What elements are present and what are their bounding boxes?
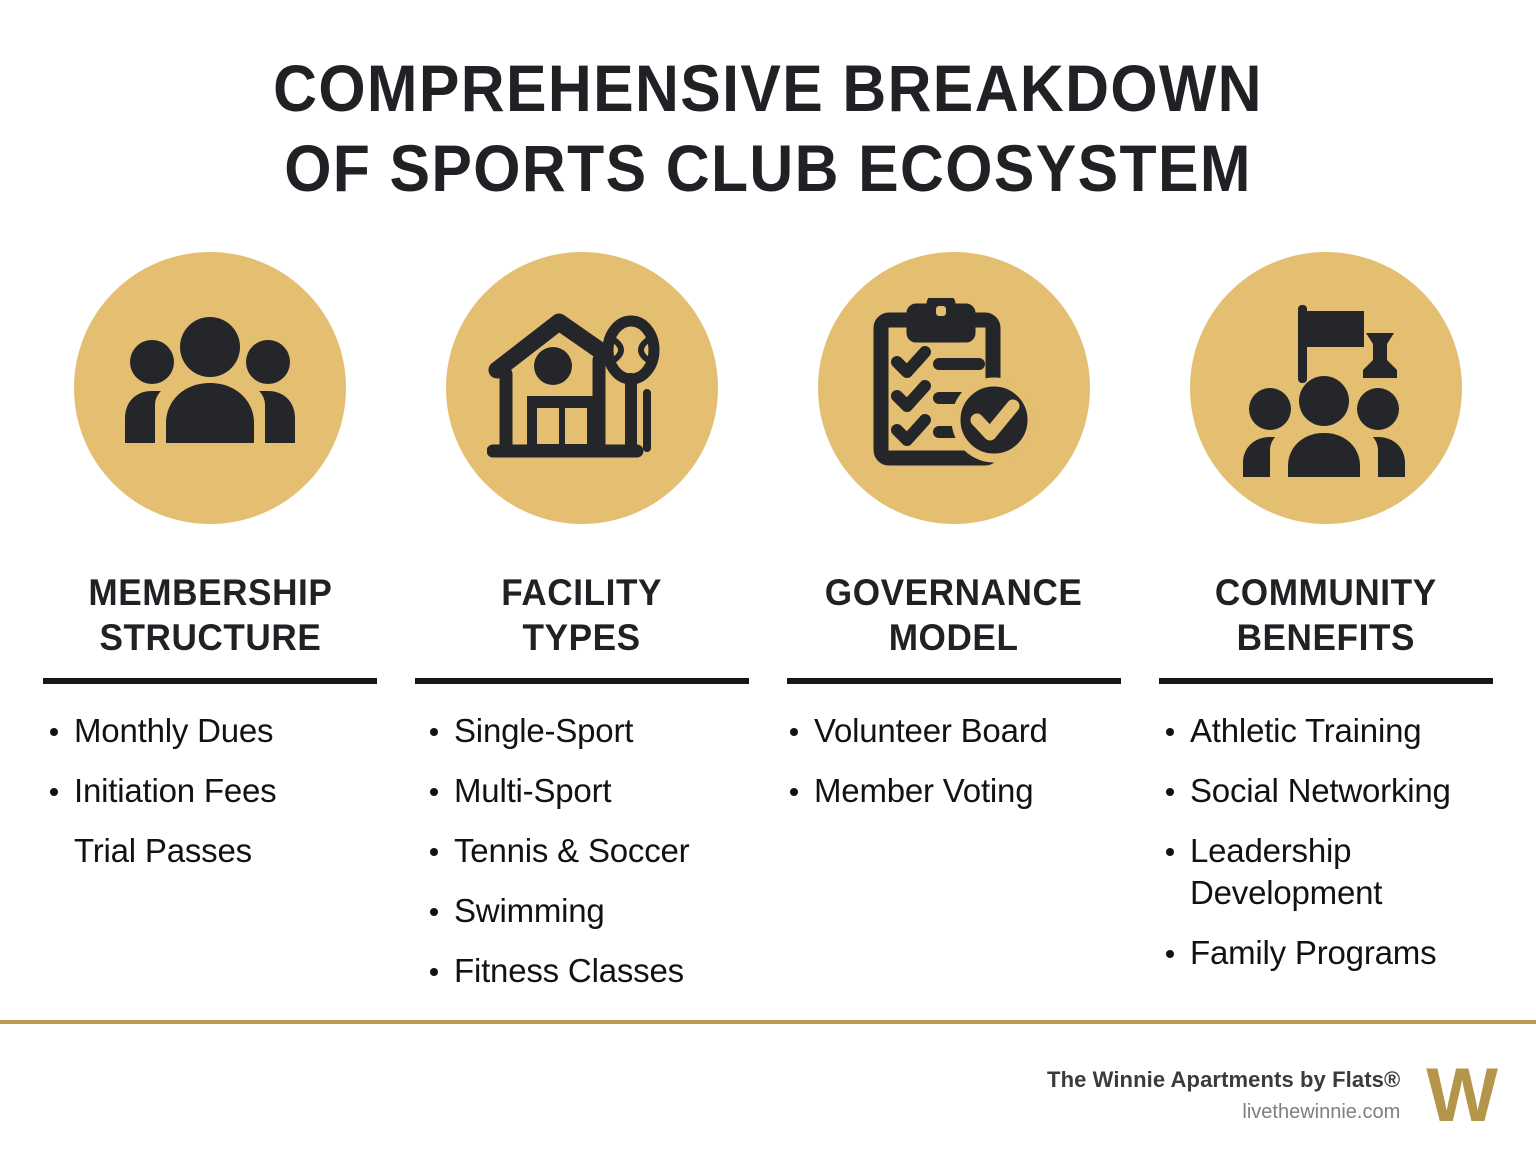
- column-heading-community: COMMUNITY BENEFITS: [1215, 570, 1437, 660]
- column-heading-line-2: BENEFITS: [1215, 615, 1437, 660]
- list-item: Tennis & Soccer: [414, 830, 748, 872]
- community-flag-icon: [1190, 252, 1462, 524]
- footer-brand-name: The Winnie Apartments by Flats®: [1047, 1065, 1400, 1095]
- column-divider: [787, 678, 1121, 684]
- footer-divider: [0, 1020, 1536, 1024]
- column-heading-line-1: MEMBERSHIP: [88, 570, 332, 615]
- list-item: Social Networking: [1150, 770, 1484, 812]
- column-heading-line-2: TYPES: [502, 615, 663, 660]
- column-heading-facility: FACILITY TYPES: [502, 570, 663, 660]
- column-membership-structure: MEMBERSHIP STRUCTURE Monthly Dues Initia…: [24, 252, 396, 890]
- page-title-line-2: OF SPORTS CLUB ECOSYSTEM: [61, 128, 1474, 208]
- people-group-icon: [74, 252, 346, 524]
- column-heading-line-2: MODEL: [825, 615, 1083, 660]
- column-heading-governance: GOVERNANCE MODEL: [825, 570, 1083, 660]
- footer: The Winnie Apartments by Flats® livethew…: [1047, 1058, 1496, 1134]
- list-governance-model: Volunteer Board Member Voting: [774, 710, 1108, 830]
- column-heading-line-1: GOVERNANCE: [825, 570, 1083, 615]
- infographic-page: COMPREHENSIVE BREAKDOWN OF SPORTS CLUB E…: [0, 0, 1536, 1154]
- column-divider: [1159, 678, 1493, 684]
- column-community-benefits: COMMUNITY BENEFITS Athletic Training Soc…: [1140, 252, 1512, 992]
- winnie-w-logo-icon: W: [1426, 1058, 1496, 1134]
- column-facility-types: FACILITY TYPES Single-Sport Multi-Sport …: [396, 252, 768, 1010]
- list-item: Single-Sport: [414, 710, 748, 752]
- footer-text: The Winnie Apartments by Flats® livethew…: [1047, 1065, 1400, 1127]
- column-divider: [415, 678, 749, 684]
- list-item: Monthly Dues: [34, 710, 368, 752]
- column-heading-line-1: COMMUNITY: [1215, 570, 1437, 615]
- clipboard-check-icon: [818, 252, 1090, 524]
- list-community-benefits: Athletic Training Social Networking Lead…: [1150, 710, 1484, 992]
- category-columns: MEMBERSHIP STRUCTURE Monthly Dues Initia…: [24, 252, 1512, 1010]
- list-item: Athletic Training: [1150, 710, 1484, 752]
- list-item: Swimming: [414, 890, 748, 932]
- footer-website-url[interactable]: livethewinnie.com: [1047, 1097, 1400, 1127]
- list-item: Volunteer Board: [774, 710, 1108, 752]
- column-governance-model: GOVERNANCE MODEL Volunteer Board Member …: [768, 252, 1140, 830]
- page-title: COMPREHENSIVE BREAKDOWN OF SPORTS CLUB E…: [0, 48, 1536, 208]
- list-facility-types: Single-Sport Multi-Sport Tennis & Soccer…: [414, 710, 748, 1010]
- column-heading-membership: MEMBERSHIP STRUCTURE: [88, 570, 332, 660]
- list-item: Fitness Classes: [414, 950, 748, 992]
- list-membership-structure: Monthly Dues Initiation Fees Trial Passe…: [34, 710, 368, 890]
- list-item: Family Programs: [1150, 932, 1484, 974]
- list-item: Multi-Sport: [414, 770, 748, 812]
- list-item: Trial Passes: [34, 830, 368, 872]
- clubhouse-racket-icon: [446, 252, 718, 524]
- column-heading-line-2: STRUCTURE: [88, 615, 332, 660]
- page-title-line-1: COMPREHENSIVE BREAKDOWN: [61, 48, 1474, 128]
- list-item: Initiation Fees: [34, 770, 368, 812]
- column-divider: [43, 678, 377, 684]
- list-item: Member Voting: [774, 770, 1108, 812]
- list-item: Leadership Development: [1150, 830, 1484, 914]
- column-heading-line-1: FACILITY: [502, 570, 663, 615]
